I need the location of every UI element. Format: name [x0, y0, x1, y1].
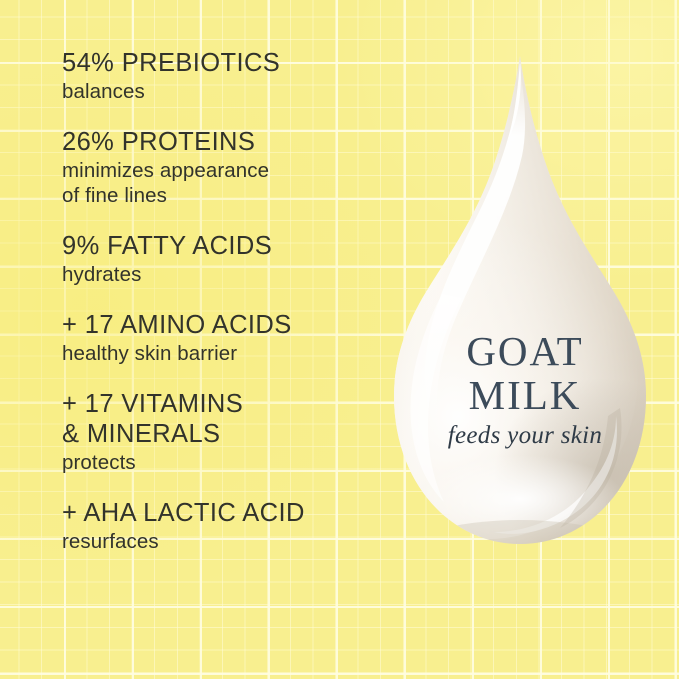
ingredient-heading: 9% FATTY ACIDS: [62, 231, 372, 261]
ingredient-benefit: balances: [62, 79, 372, 104]
ingredient-item-vitamins-minerals: + 17 VITAMINS & MINERALS protects: [62, 389, 372, 475]
ingredient-heading: 26% PROTEINS: [62, 127, 372, 157]
ingredient-heading: + AHA LACTIC ACID: [62, 498, 372, 528]
ingredient-heading: + 17 VITAMINS & MINERALS: [62, 389, 372, 449]
ingredient-benefit: healthy skin barrier: [62, 341, 372, 366]
ingredient-item-fatty-acids: 9% FATTY ACIDS hydrates: [62, 231, 372, 287]
ingredient-item-aha-lactic-acid: + AHA LACTIC ACID resurfaces: [62, 498, 372, 554]
product-infographic: 54% PREBIOTICS balances 26% PROTEINS min…: [0, 0, 679, 679]
milk-droplet-graphic: [370, 44, 670, 564]
ingredient-item-proteins: 26% PROTEINS minimizes appearance of fin…: [62, 127, 372, 208]
ingredient-benefit: resurfaces: [62, 529, 372, 554]
ingredient-item-prebiotics: 54% PREBIOTICS balances: [62, 48, 372, 104]
milk-droplet-icon: [370, 44, 670, 564]
ingredient-benefit: hydrates: [62, 262, 372, 287]
ingredient-benefit: protects: [62, 450, 372, 475]
ingredient-item-amino-acids: + 17 AMINO ACIDS healthy skin barrier: [62, 310, 372, 366]
ingredient-benefit: minimizes appearance of fine lines: [62, 158, 372, 208]
ingredient-heading: 54% PREBIOTICS: [62, 48, 372, 78]
ingredient-heading: + 17 AMINO ACIDS: [62, 310, 372, 340]
ingredient-list: 54% PREBIOTICS balances 26% PROTEINS min…: [62, 48, 372, 577]
